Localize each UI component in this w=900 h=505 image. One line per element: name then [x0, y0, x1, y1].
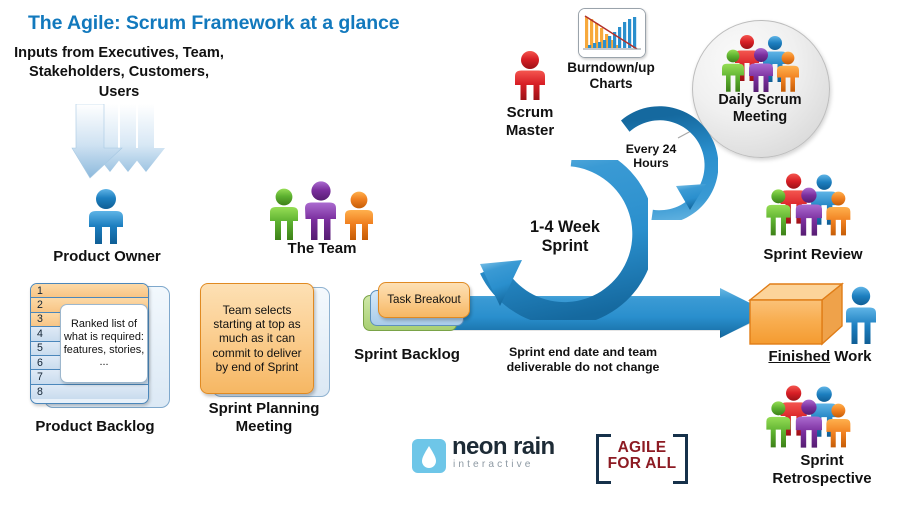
- agile-for-all-text: AGILE FOR ALL: [606, 434, 678, 478]
- neon-rain-name: neon rain: [452, 435, 555, 459]
- finished-word: Finished: [768, 348, 830, 365]
- person-icon: [840, 286, 882, 344]
- team-people-icon: [266, 178, 378, 240]
- water-drop-icon: [412, 439, 446, 473]
- sprint-backlog[interactable]: Task Breakout: [363, 282, 483, 342]
- finished-work-label: Finished Work: [746, 348, 894, 366]
- people-group-icon: [762, 384, 858, 448]
- person-icon: [80, 188, 132, 244]
- scrum-master-label: Scrum Master: [487, 104, 573, 140]
- agile-for-all-logo[interactable]: AGILE FOR ALL: [596, 434, 688, 478]
- agile-line2: FOR ALL: [608, 456, 677, 472]
- task-breakout-card: Task Breakout: [378, 282, 470, 318]
- team-label: The Team: [262, 240, 382, 258]
- box-icon: [748, 282, 844, 346]
- backlog-note: Ranked list of what is required: feature…: [60, 304, 148, 383]
- product-backlog[interactable]: 1 2 3 4 5 6 7 8 Ranked list of what is r…: [30, 283, 170, 410]
- planning-note: Team selects starting at top as much as …: [200, 283, 314, 394]
- sprint-retrospective-label: Sprint Retrospective: [752, 452, 892, 488]
- sprint-review-label: Sprint Review: [748, 246, 878, 264]
- neon-rain-tagline: interactive: [453, 460, 534, 470]
- agile-line1: AGILE: [618, 440, 667, 456]
- backlog-row: 1: [31, 284, 148, 298]
- inputs-label: Inputs from Executives, Team, Stakeholde…: [14, 44, 224, 102]
- down-arrows-icon: [62, 104, 192, 182]
- sprint-planning-meeting[interactable]: Team selects starting at top as much as …: [200, 283, 330, 398]
- sprint-planning-label: Sprint Planning Meeting: [195, 400, 333, 436]
- backlog-row: 8: [31, 385, 148, 399]
- people-group-icon: [718, 34, 806, 92]
- person-icon: [508, 50, 552, 100]
- sprint-backlog-label: Sprint Backlog: [352, 346, 462, 364]
- sprint-cycle-label: 1-4 Week Sprint: [505, 218, 625, 256]
- neon-rain-logo[interactable]: neon rain interactive: [412, 436, 580, 478]
- product-backlog-label: Product Backlog: [20, 418, 170, 436]
- burndown-label: Burndown/up Charts: [556, 60, 666, 93]
- page-title: The Agile: Scrum Framework at a glance: [28, 12, 400, 35]
- product-owner-label: Product Owner: [34, 248, 180, 266]
- scrum-framework-diagram: The Agile: Scrum Framework at a glance I…: [0, 0, 900, 505]
- people-group-icon: [762, 172, 858, 236]
- bar-chart-icon: [578, 8, 646, 58]
- sprint-end-note: Sprint end date and team deliverable do …: [480, 345, 686, 375]
- work-word: Work: [830, 348, 871, 365]
